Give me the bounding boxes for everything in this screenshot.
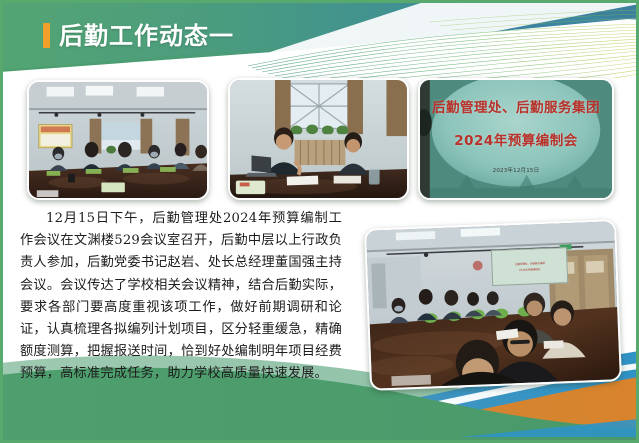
orange-accent-bar-icon bbox=[43, 23, 50, 48]
photo-conference-banner: 后勤管理处、后勤服务集团 2024年预算编制会 2023年12月15日 bbox=[418, 78, 614, 200]
projection-line-2: 2024年预算编制会 bbox=[519, 267, 540, 272]
meeting-room-wide-image bbox=[29, 82, 207, 198]
photo-audience-seated: 后勤管理处、后勤服务集团 2024年预算编制会 bbox=[364, 219, 622, 391]
audience-seated-image bbox=[366, 221, 620, 388]
banner-line-1: 后勤管理处、后勤服务集团 bbox=[432, 96, 600, 116]
article-body: 12月15日下午，后勤管理处2024年预算编制工作会议在文渊楼529会议室召开，… bbox=[20, 208, 342, 386]
banner-date: 2023年12月15日 bbox=[493, 166, 540, 174]
photo-meeting-room-wide bbox=[27, 80, 209, 200]
slide-page: 后勤工作动态一 bbox=[0, 0, 639, 443]
banner-line-2: 2024年预算编制会 bbox=[454, 129, 578, 149]
page-title-label: 后勤工作动态一 bbox=[59, 24, 234, 48]
projection-screen: 后勤管理处、后勤服务集团 2024年预算编制会 bbox=[491, 247, 569, 287]
photo-two-speakers bbox=[228, 78, 409, 200]
banner-text-overlay: 后勤管理处、后勤服务集团 2024年预算编制会 2023年12月15日 bbox=[420, 80, 612, 198]
page-header: 后勤工作动态一 bbox=[0, 0, 639, 78]
projection-line-1: 后勤管理处、后勤服务集团 bbox=[515, 261, 545, 266]
two-speakers-image bbox=[230, 80, 407, 198]
page-title: 后勤工作动态一 bbox=[43, 23, 234, 48]
